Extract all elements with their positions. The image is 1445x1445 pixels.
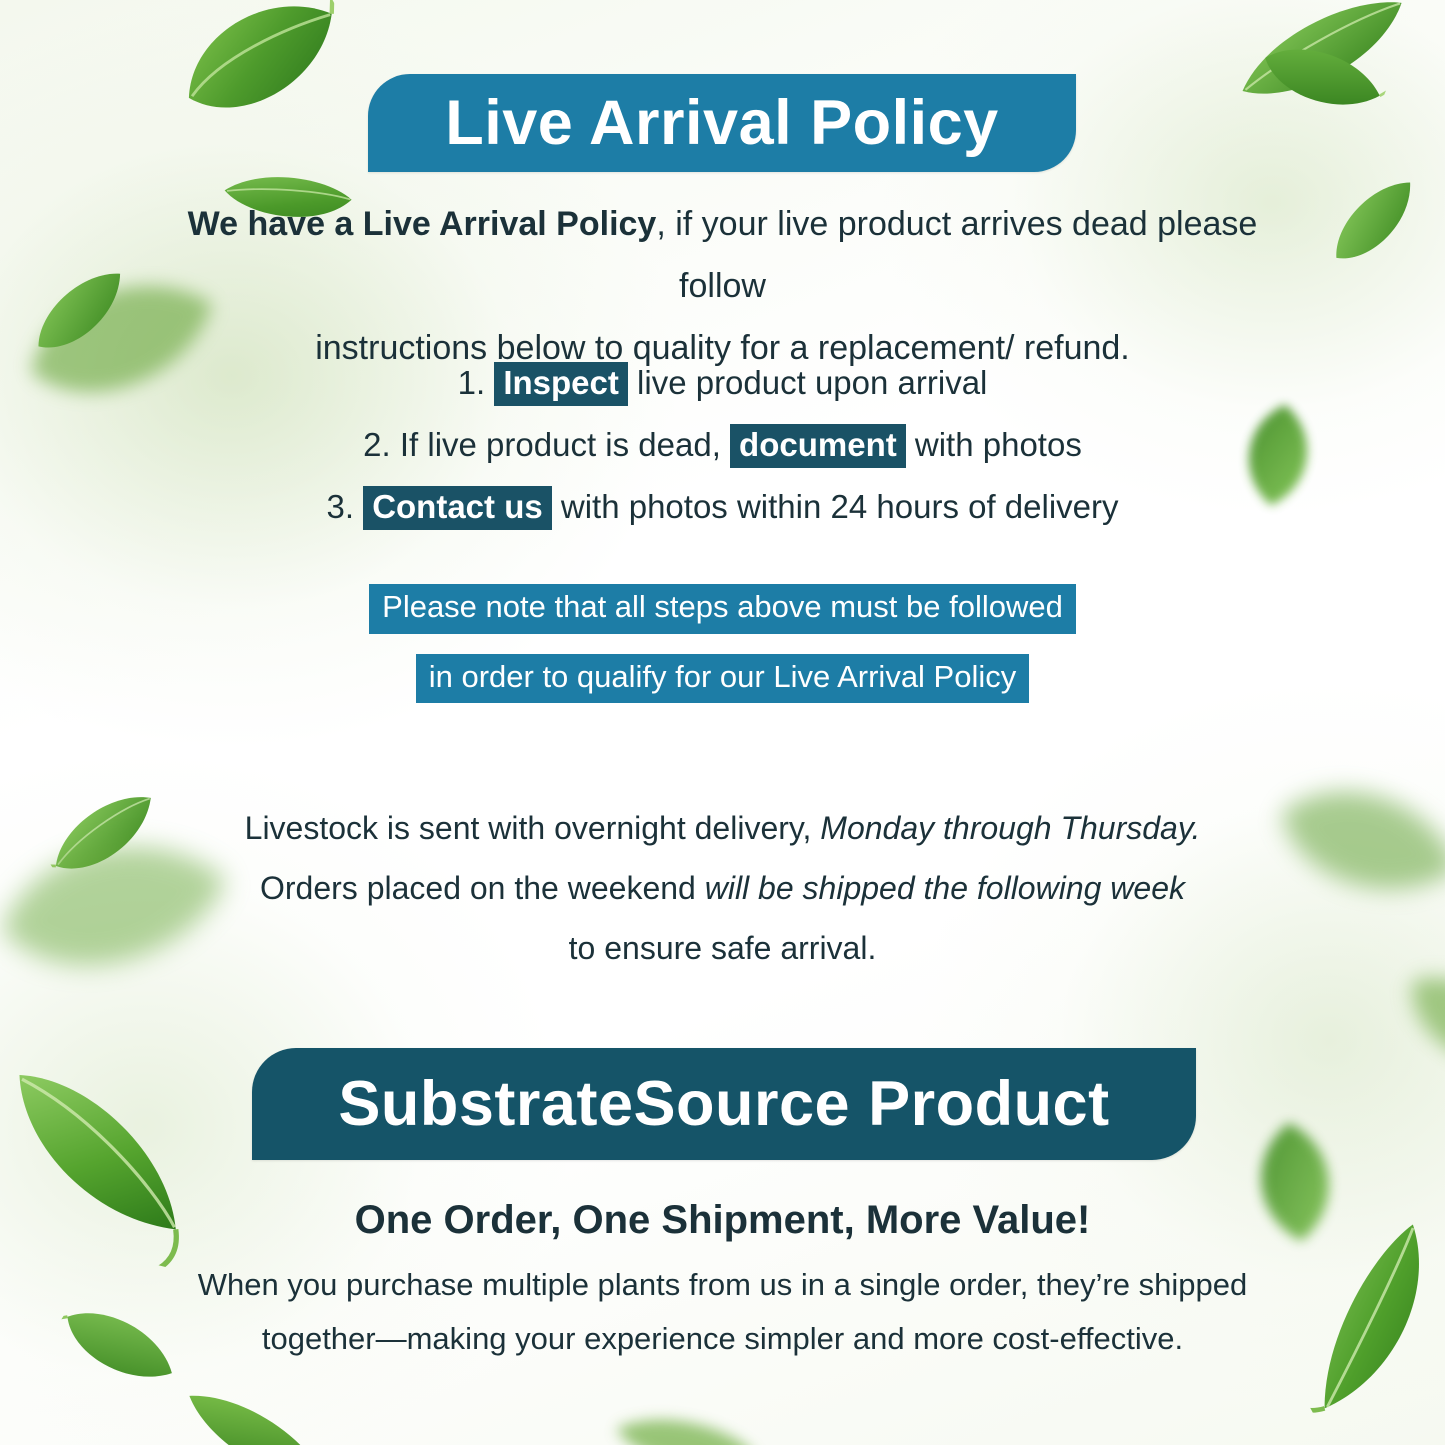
value-heading: One Order, One Shipment, More Value!: [150, 1196, 1295, 1244]
list-item: 1. Inspect live product upon arrival: [150, 352, 1295, 414]
shipping-line-3: to ensure safe arrival.: [150, 918, 1295, 978]
intro-bold-lead: We have a Live Arrival Policy: [188, 205, 657, 243]
intro-line-1: We have a Live Arrival Policy, if your l…: [150, 193, 1295, 317]
shipping-line-2: Orders placed on the weekend will be shi…: [150, 858, 1295, 918]
list-item: 3. Contact us with photos within 24 hour…: [150, 476, 1295, 538]
step-number: 3.: [326, 488, 354, 525]
step-after-text: with photos: [915, 426, 1082, 463]
step-after-text: with photos within 24 hours of delivery: [561, 488, 1119, 525]
shipping-line-2-italic: will be shipped the following week: [705, 870, 1185, 906]
live-arrival-policy-title-banner: Live Arrival Policy: [368, 74, 1076, 172]
shipping-line-1-normal: Livestock is sent with overnight deliver…: [245, 810, 821, 846]
note-line-1: Please note that all steps above must be…: [369, 584, 1076, 634]
value-line-1: When you purchase multiple plants from u…: [150, 1258, 1295, 1312]
step-highlight-document: document: [730, 424, 906, 468]
shipping-line-1: Livestock is sent with overnight deliver…: [150, 798, 1295, 858]
value-line-2: together—making your experience simpler …: [150, 1312, 1295, 1366]
step-after-text: live product upon arrival: [637, 364, 987, 401]
step-before-text: If live product is dead,: [400, 426, 721, 463]
infographic-canvas: Live Arrival Policy We have a Live Arriv…: [0, 0, 1445, 1445]
shipping-line-2-normal: Orders placed on the weekend: [260, 870, 705, 906]
policy-note-block: Please note that all steps above must be…: [150, 584, 1295, 703]
step-highlight-inspect: Inspect: [494, 362, 628, 406]
step-number: 1.: [458, 364, 486, 401]
steps-list: 1. Inspect live product upon arrival 2. …: [150, 352, 1295, 538]
product-banner-label: SubstrateSource Product: [338, 1068, 1109, 1140]
step-number: 2.: [363, 426, 391, 463]
intro-rest: , if your live product arrives dead plea…: [656, 205, 1257, 305]
title-banner-label: Live Arrival Policy: [445, 87, 998, 159]
substratesource-product-banner: SubstrateSource Product: [252, 1048, 1196, 1160]
value-paragraph: When you purchase multiple plants from u…: [150, 1258, 1295, 1366]
step-highlight-contact-us[interactable]: Contact us: [363, 486, 552, 530]
note-line-2: in order to qualify for our Live Arrival…: [416, 654, 1030, 704]
list-item: 2. If live product is dead, document wit…: [150, 414, 1295, 476]
shipping-paragraph: Livestock is sent with overnight deliver…: [150, 798, 1295, 978]
shipping-line-1-italic: Monday through Thursday.: [820, 810, 1200, 846]
